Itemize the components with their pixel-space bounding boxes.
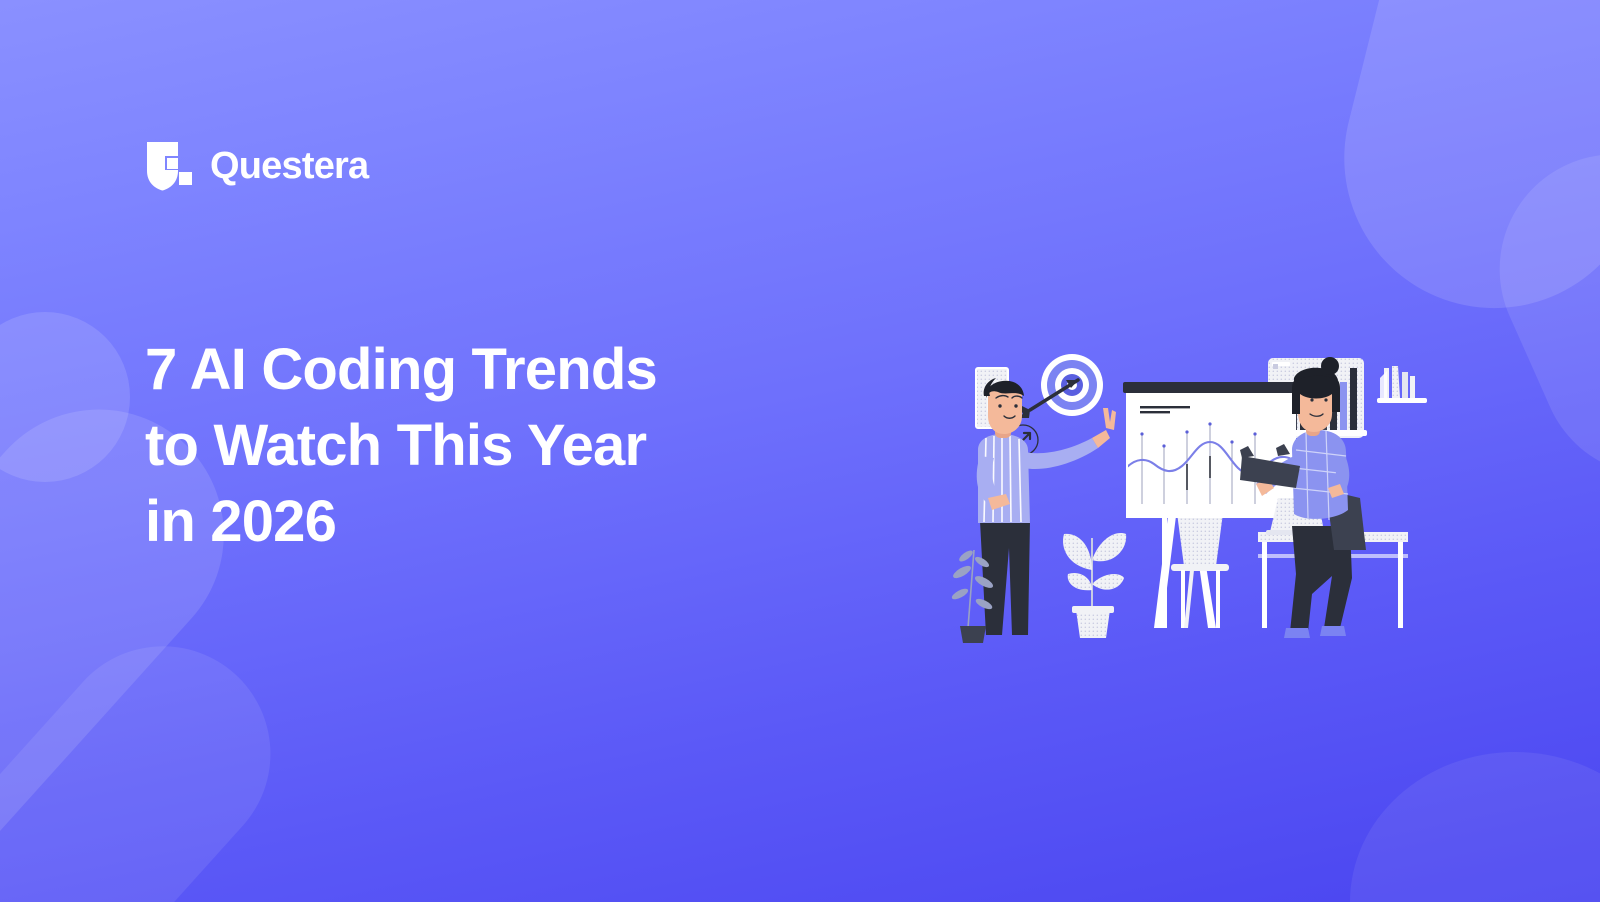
decor-circle-bottom-left bbox=[0, 312, 130, 482]
blog-banner: Questera 7 AI Coding Trends to Watch Thi… bbox=[0, 0, 1600, 902]
headline-line-2: to Watch This Year bbox=[145, 408, 765, 484]
headline-line-3: in 2026 bbox=[145, 484, 765, 560]
brand-wordmark: Questera bbox=[210, 145, 368, 188]
page-title: 7 AI Coding Trends to Watch This Year in… bbox=[145, 332, 765, 560]
chair-icon bbox=[1171, 513, 1229, 628]
decor-blob-top-right bbox=[1312, 0, 1600, 340]
presentation-board-icon bbox=[1123, 382, 1299, 518]
office-scene-illustration-icon bbox=[940, 338, 1430, 643]
man-presenter-icon bbox=[977, 378, 1116, 635]
potted-plant-icon bbox=[1063, 533, 1126, 638]
bookshelf-icon bbox=[1377, 366, 1427, 403]
headline-line-1: 7 AI Coding Trends bbox=[145, 332, 765, 408]
decor-pill-bottom-left-second bbox=[0, 602, 315, 902]
hero-illustration bbox=[940, 338, 1430, 643]
decor-blob-top-right-second bbox=[1463, 117, 1600, 512]
questera-shield-mark-icon bbox=[145, 140, 193, 192]
decor-blob-bottom-right bbox=[1350, 752, 1600, 902]
brand-logo[interactable]: Questera bbox=[145, 140, 368, 192]
